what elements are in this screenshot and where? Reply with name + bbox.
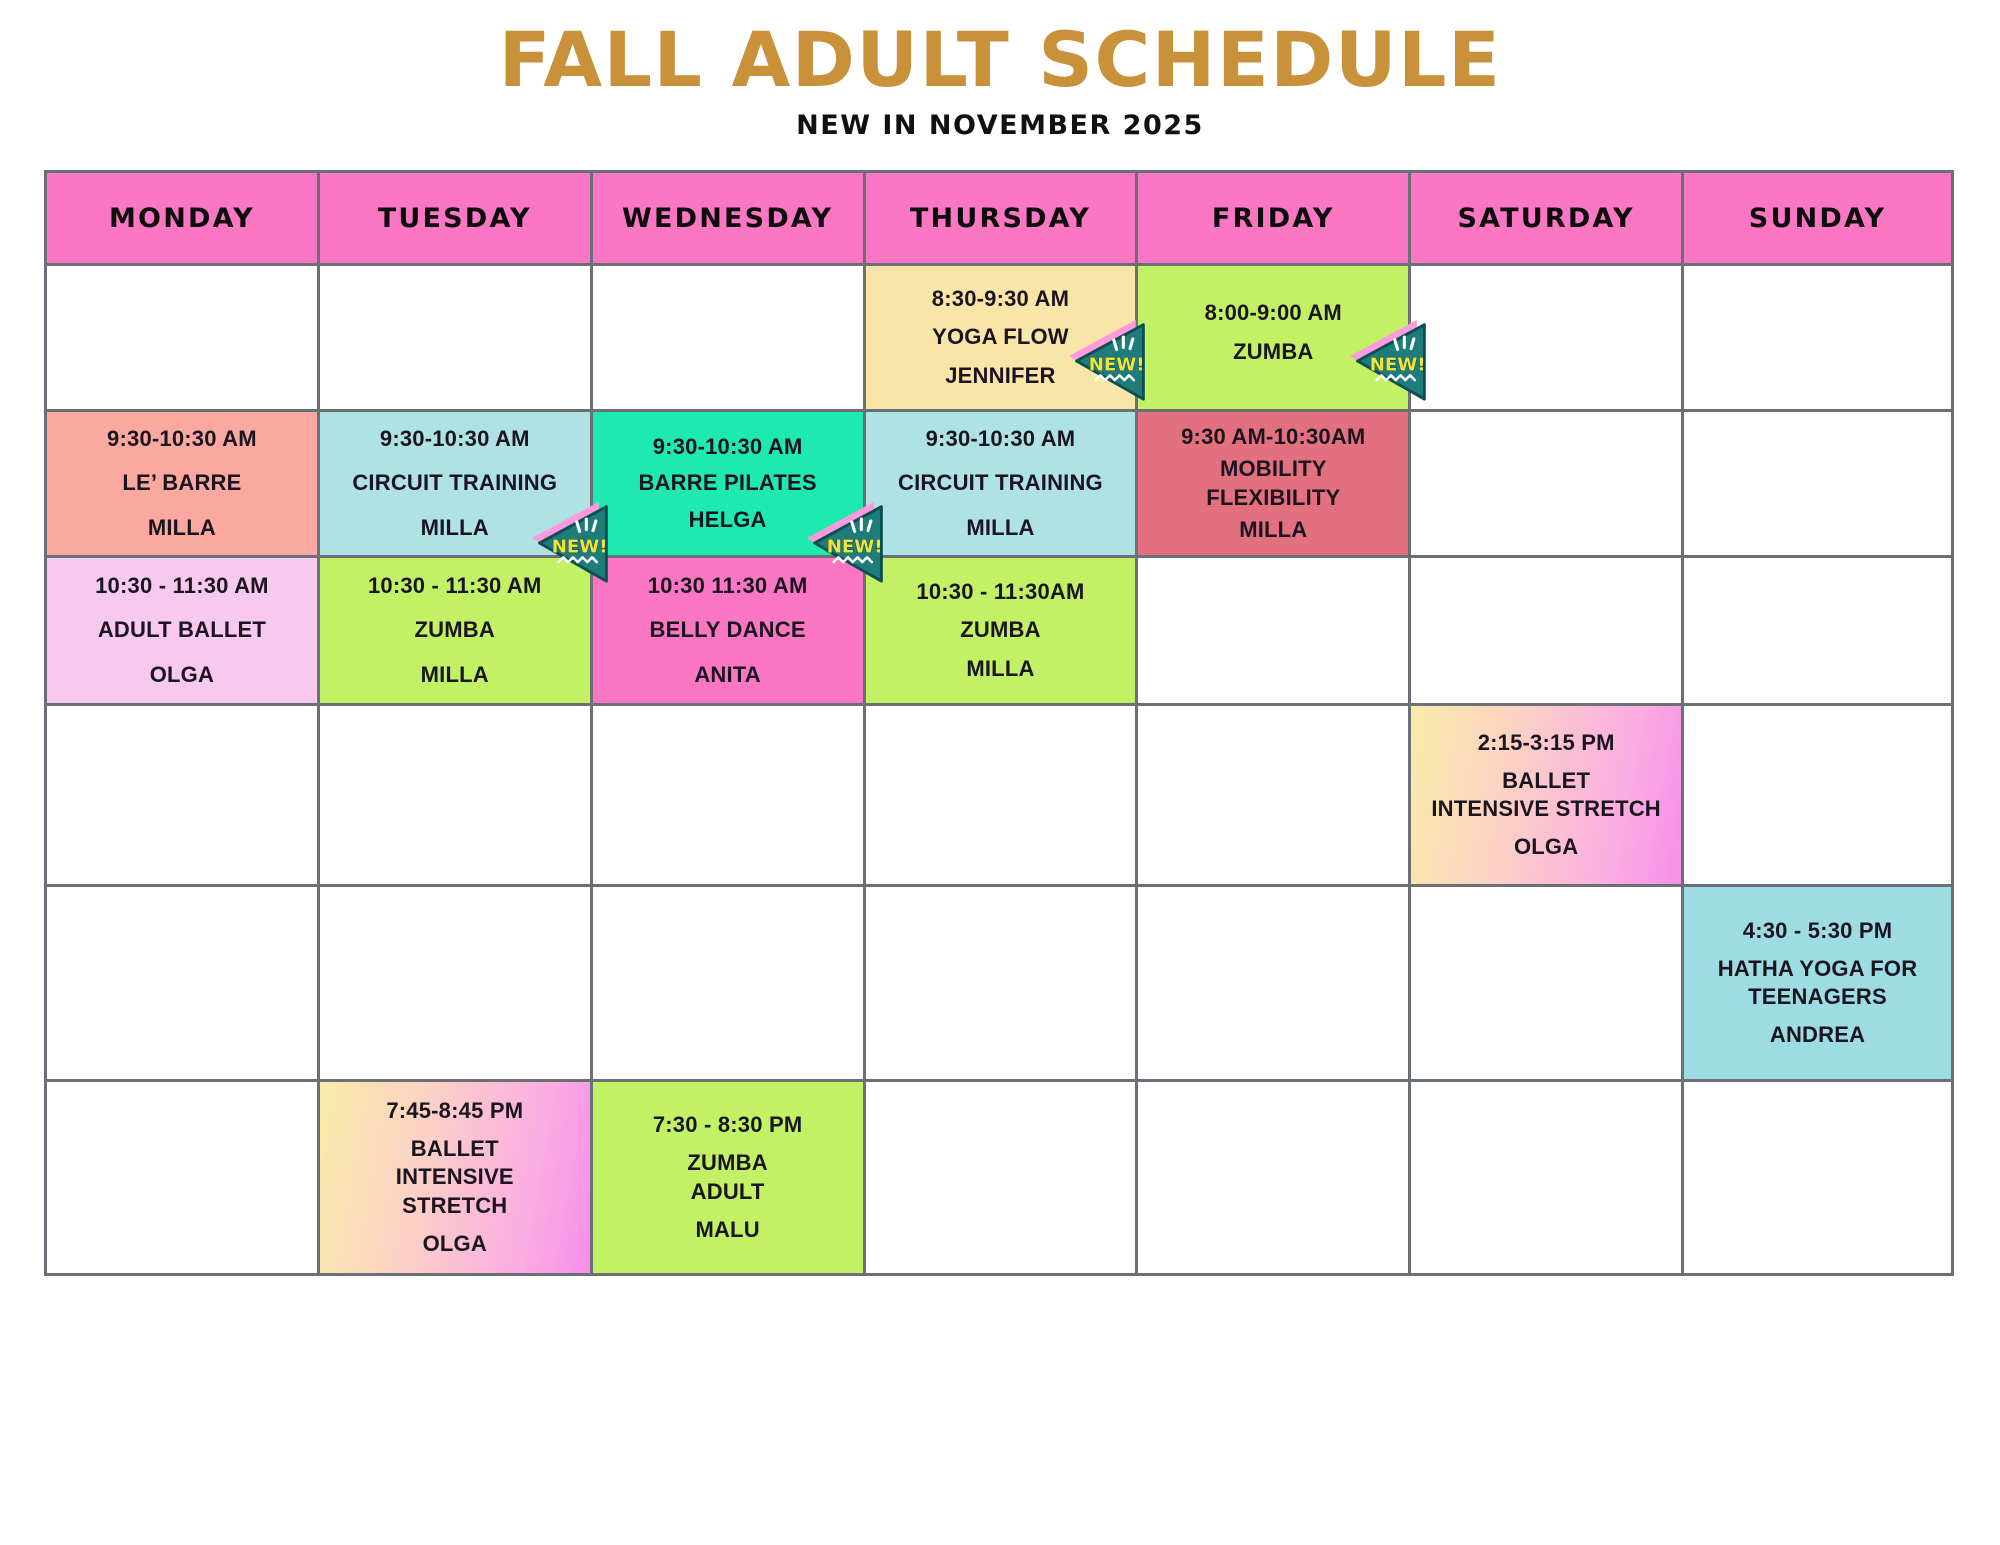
new-badge-icon[interactable]: NEW! — [1061, 317, 1157, 403]
cell-sunday-r6[interactable] — [1681, 1079, 1954, 1276]
day-header-tuesday: TUESDAY — [317, 170, 590, 263]
class-time: 7:30 - 8:30 PM — [649, 1111, 807, 1139]
class-time: 9:30-10:30 AM — [376, 425, 534, 453]
class-name: ZUMBA ADULT — [683, 1149, 771, 1205]
class-time: 9:30-10:30 AM — [922, 425, 1080, 453]
cell-monday-r5[interactable] — [44, 884, 317, 1079]
cell-sunday-r3[interactable] — [1681, 555, 1954, 703]
class-card-le-barre[interactable]: 9:30-10:30 AM LE’ BARRE MILLA — [47, 412, 317, 555]
cell-saturday-r3[interactable] — [1408, 555, 1681, 703]
day-header-friday: FRIDAY — [1135, 170, 1408, 263]
cell-tuesday-r1[interactable] — [317, 263, 590, 409]
class-instructor: ANITA — [690, 661, 765, 689]
class-name: LE’ BARRE — [118, 469, 245, 497]
cell-wednesday-r5[interactable] — [590, 884, 863, 1079]
class-card-zumba-friday-am[interactable]: 8:00-9:00 AM ZUMBA NEW! — [1138, 266, 1408, 409]
class-card-ballet-intensive-stretch-sat[interactable]: 2:15-3:15 PM BALLET INTENSIVE STRETCH OL… — [1411, 706, 1681, 884]
cell-thursday-r5[interactable] — [863, 884, 1136, 1079]
day-header-thursday: THURSDAY — [863, 170, 1136, 263]
class-instructor: OLGA — [1510, 833, 1582, 861]
class-time: 10:30 - 11:30AM — [912, 578, 1088, 606]
cell-monday-r2[interactable]: 9:30-10:30 AM LE’ BARRE MILLA — [44, 409, 317, 555]
class-card-zumba-thu-am[interactable]: 10:30 - 11:30AM ZUMBA MILLA — [866, 558, 1136, 703]
cell-thursday-r4[interactable] — [863, 703, 1136, 884]
cell-wednesday-r1[interactable] — [590, 263, 863, 409]
day-header-saturday: SATURDAY — [1408, 170, 1681, 263]
cell-thursday-r2[interactable]: 9:30-10:30 AM CIRCUIT TRAINING MILLA — [863, 409, 1136, 555]
schedule-page: FALL ADULT SCHEDULE NEW IN NOVEMBER 2025… — [0, 0, 2000, 1545]
cell-thursday-r6[interactable] — [863, 1079, 1136, 1276]
class-time: 9:30-10:30 AM — [103, 425, 261, 453]
svg-text:NEW!: NEW! — [826, 537, 882, 558]
svg-text:NEW!: NEW! — [1370, 355, 1426, 376]
cell-thursday-r1[interactable]: 8:30-9:30 AM YOGA FLOW JENNIFER NEW! — [863, 263, 1136, 409]
class-name: ZUMBA — [1229, 338, 1317, 366]
class-name: YOGA FLOW — [928, 323, 1073, 351]
class-time: 10:30 - 11:30 AM — [364, 572, 546, 600]
class-card-zumba-adult[interactable]: 7:30 - 8:30 PM ZUMBA ADULT MALU — [593, 1082, 863, 1273]
new-badge-icon[interactable]: NEW! — [1342, 317, 1438, 403]
class-name: BELLY DANCE — [645, 616, 809, 644]
cell-thursday-r3[interactable]: 10:30 - 11:30AM ZUMBA MILLA — [863, 555, 1136, 703]
page-title: FALL ADULT SCHEDULE — [0, 22, 2000, 98]
class-card-barre-pilates[interactable]: 9:30-10:30 AM BARRE PILATES HELGA NEW! — [593, 412, 863, 555]
class-time: 9:30 AM-10:30AM — [1177, 423, 1369, 451]
schedule-row-6: 7:45-8:45 PM BALLET INTENSIVE STRETCH OL… — [44, 1079, 1954, 1276]
cell-friday-r6[interactable] — [1135, 1079, 1408, 1276]
cell-saturday-r1[interactable] — [1408, 263, 1681, 409]
cell-saturday-r5[interactable] — [1408, 884, 1681, 1079]
class-instructor: OLGA — [146, 661, 218, 689]
class-card-circuit-training-thu[interactable]: 9:30-10:30 AM CIRCUIT TRAINING MILLA — [866, 412, 1136, 555]
cell-sunday-r5[interactable]: 4:30 - 5:30 PM HATHA YOGA FOR TEENAGERS … — [1681, 884, 1954, 1079]
class-instructor: ANDREA — [1766, 1021, 1869, 1049]
class-name: ZUMBA — [411, 616, 499, 644]
day-header-row: MONDAY TUESDAY WEDNESDAY THURSDAY FRIDAY… — [44, 170, 1954, 263]
class-instructor: MILLA — [417, 661, 493, 689]
new-badge-icon[interactable]: NEW! — [799, 499, 895, 585]
day-header-sunday: SUNDAY — [1681, 170, 1954, 263]
cell-saturday-r2[interactable] — [1408, 409, 1681, 555]
page-header: FALL ADULT SCHEDULE NEW IN NOVEMBER 2025 — [0, 0, 2000, 141]
class-instructor: HELGA — [685, 506, 771, 534]
class-name: ADULT BALLET — [94, 616, 270, 644]
class-instructor: MILLA — [962, 514, 1038, 542]
cell-monday-r3[interactable]: 10:30 - 11:30 AM ADULT BALLET OLGA — [44, 555, 317, 703]
schedule-row-1: 8:30-9:30 AM YOGA FLOW JENNIFER NEW! 8:0… — [44, 263, 1954, 409]
cell-friday-r1[interactable]: 8:00-9:00 AM ZUMBA NEW! — [1135, 263, 1408, 409]
day-header-monday: MONDAY — [44, 170, 317, 263]
class-card-ballet-intensive-stretch-tue[interactable]: 7:45-8:45 PM BALLET INTENSIVE STRETCH OL… — [320, 1082, 590, 1273]
class-card-hatha-yoga-teenagers[interactable]: 4:30 - 5:30 PM HATHA YOGA FOR TEENAGERS … — [1684, 887, 1951, 1079]
cell-tuesday-r6[interactable]: 7:45-8:45 PM BALLET INTENSIVE STRETCH OL… — [317, 1079, 590, 1276]
class-name: BARRE PILATES — [635, 469, 821, 497]
cell-friday-r5[interactable] — [1135, 884, 1408, 1079]
cell-saturday-r4[interactable]: 2:15-3:15 PM BALLET INTENSIVE STRETCH OL… — [1408, 703, 1681, 884]
cell-monday-r1[interactable] — [44, 263, 317, 409]
class-name: HATHA YOGA FOR TEENAGERS — [1714, 955, 1922, 1011]
cell-friday-r2[interactable]: 9:30 AM-10:30AM MOBILITY FLEXIBILITY MIL… — [1135, 409, 1408, 555]
page-subtitle: NEW IN NOVEMBER 2025 — [0, 110, 2000, 141]
class-name: ZUMBA — [956, 616, 1044, 644]
class-time: 4:30 - 5:30 PM — [1739, 917, 1897, 945]
schedule-row-3: 10:30 - 11:30 AM ADULT BALLET OLGA 10:30… — [44, 555, 1954, 703]
svg-text:NEW!: NEW! — [551, 537, 607, 558]
svg-text:NEW!: NEW! — [1089, 355, 1145, 376]
class-name: BALLET INTENSIVE STRETCH — [392, 1135, 518, 1219]
cell-sunday-r2[interactable] — [1681, 409, 1954, 555]
class-instructor: MALU — [691, 1216, 763, 1244]
cell-wednesday-r6[interactable]: 7:30 - 8:30 PM ZUMBA ADULT MALU — [590, 1079, 863, 1276]
class-instructor: OLGA — [419, 1230, 491, 1258]
cell-monday-r6[interactable] — [44, 1079, 317, 1276]
class-card-adult-ballet[interactable]: 10:30 - 11:30 AM ADULT BALLET OLGA — [47, 558, 317, 703]
class-name: MOBILITY FLEXIBILITY — [1202, 455, 1344, 511]
cell-saturday-r6[interactable] — [1408, 1079, 1681, 1276]
class-time: 10:30 11:30 AM — [644, 572, 812, 600]
class-instructor: MILLA — [417, 514, 493, 542]
class-name: BALLET INTENSIVE STRETCH — [1427, 767, 1665, 823]
class-card-mobility-flexibility[interactable]: 9:30 AM-10:30AM MOBILITY FLEXIBILITY MIL… — [1138, 412, 1408, 555]
cell-sunday-r1[interactable] — [1681, 263, 1954, 409]
schedule-row-2: 9:30-10:30 AM LE’ BARRE MILLA 9:30-10:30… — [44, 409, 1954, 555]
class-name: CIRCUIT TRAINING — [348, 469, 561, 497]
cell-friday-r4[interactable] — [1135, 703, 1408, 884]
cell-sunday-r4[interactable] — [1681, 703, 1954, 884]
cell-monday-r4[interactable] — [44, 703, 317, 884]
class-instructor: MILLA — [144, 514, 220, 542]
cell-tuesday-r4[interactable] — [317, 703, 590, 884]
class-name: CIRCUIT TRAINING — [894, 469, 1107, 497]
schedule-row-4: 2:15-3:15 PM BALLET INTENSIVE STRETCH OL… — [44, 703, 1954, 884]
class-instructor: JENNIFER — [941, 362, 1059, 390]
cell-wednesday-r4[interactable] — [590, 703, 863, 884]
cell-tuesday-r2[interactable]: 9:30-10:30 AM CIRCUIT TRAINING MILLA NEW… — [317, 409, 590, 555]
cell-tuesday-r5[interactable] — [317, 884, 590, 1079]
schedule-row-5: 4:30 - 5:30 PM HATHA YOGA FOR TEENAGERS … — [44, 884, 1954, 1079]
class-time: 9:30-10:30 AM — [649, 433, 807, 461]
class-card-circuit-training-tue[interactable]: 9:30-10:30 AM CIRCUIT TRAINING MILLA NEW… — [320, 412, 590, 555]
cell-friday-r3[interactable] — [1135, 555, 1408, 703]
day-header-wednesday: WEDNESDAY — [590, 170, 863, 263]
class-time: 8:00-9:00 AM — [1201, 299, 1346, 327]
class-card-yoga-flow[interactable]: 8:30-9:30 AM YOGA FLOW JENNIFER NEW! — [866, 266, 1136, 409]
class-time: 8:30-9:30 AM — [928, 285, 1073, 313]
class-instructor: MILLA — [962, 655, 1038, 683]
class-time: 10:30 - 11:30 AM — [91, 572, 273, 600]
class-time: 2:15-3:15 PM — [1474, 729, 1619, 757]
new-badge-icon[interactable]: NEW! — [524, 499, 620, 585]
class-instructor: MILLA — [1235, 516, 1311, 544]
weekly-schedule-table: MONDAY TUESDAY WEDNESDAY THURSDAY FRIDAY… — [44, 170, 1954, 1276]
class-time: 7:45-8:45 PM — [382, 1097, 527, 1125]
cell-wednesday-r2[interactable]: 9:30-10:30 AM BARRE PILATES HELGA NEW! — [590, 409, 863, 555]
